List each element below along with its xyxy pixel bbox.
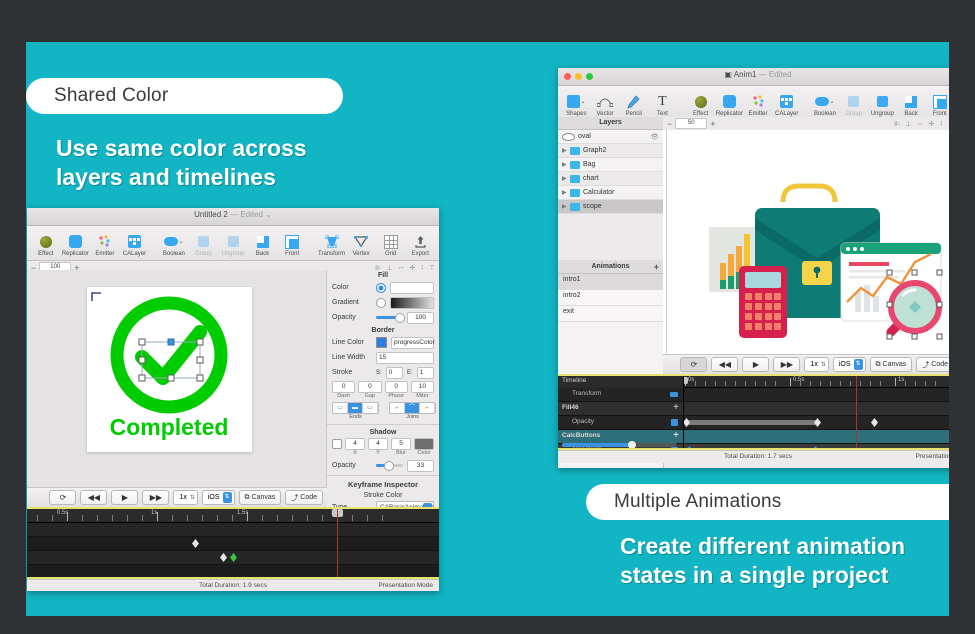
left-window-title-text: Untitled 2 xyxy=(194,210,228,219)
animation-row-exit[interactable]: exit xyxy=(558,306,663,322)
bring-front-icon xyxy=(277,233,307,250)
canvas-button[interactable]: ⧉ Canvas xyxy=(239,490,282,505)
layer-name: oval xyxy=(578,133,591,140)
toolbar-button-text[interactable]: T Text xyxy=(648,93,677,119)
send-back-icon xyxy=(248,233,278,250)
platform-select[interactable]: iOS ⇅ xyxy=(833,357,866,372)
ungroup-icon xyxy=(868,93,897,110)
layer-row-bag[interactable]: ▶ Bag xyxy=(558,158,663,172)
dash-field[interactable]: 0 xyxy=(332,381,355,393)
folder-icon xyxy=(570,189,580,197)
fill-opacity-value[interactable]: 100 xyxy=(407,312,434,324)
miter-cell[interactable]: 10 Miter xyxy=(411,381,434,400)
speed-select[interactable]: 1x ⇅ xyxy=(804,357,828,372)
chevron-down-icon[interactable]: ⌄ xyxy=(265,210,272,219)
ruler-tick-label: 1s xyxy=(898,377,904,383)
toolbar-button-effect[interactable]: Effect xyxy=(686,93,715,119)
track-name-row[interactable]: Transform xyxy=(558,388,683,402)
ungroup-icon xyxy=(218,233,248,250)
timeline-row[interactable] xyxy=(27,523,439,537)
inspector-divider xyxy=(327,424,439,425)
align-left-icon[interactable]: ⊫ xyxy=(894,120,900,128)
line-color-label: Line Color xyxy=(332,339,372,346)
group-icon xyxy=(189,233,219,250)
ruler-tick-label: 1s xyxy=(151,510,157,516)
vertex-icon xyxy=(346,233,376,250)
stroke-row[interactable]: Stroke S: 0 E: 1 xyxy=(327,365,439,380)
layer-row-chart[interactable]: ▶ chart xyxy=(558,172,663,186)
joins-group[interactable]: ⌐⌒⌐ Joins xyxy=(389,402,436,421)
join-bevel-icon[interactable]: ⌐ xyxy=(420,403,435,413)
canvas-button[interactable]: ⧉ Canvas xyxy=(870,357,913,372)
end-round-icon[interactable]: ▬ xyxy=(348,403,363,413)
timeline-tracks-area[interactable]: 0s 0.5s 1s xyxy=(683,376,949,448)
track-label: Fill46 xyxy=(562,404,579,411)
toolbar-label: Export xyxy=(405,250,435,258)
stepper-icon[interactable]: ⇅ xyxy=(821,361,826,368)
code-label: Code xyxy=(300,494,317,501)
layer-name: Bag xyxy=(583,161,595,168)
right-timeline[interactable]: Timeline Transform Fill46 + Opacity Calc… xyxy=(558,376,949,448)
rewind-button[interactable]: ◀◀ xyxy=(711,357,738,372)
track-name-row[interactable]: CalcButtons + xyxy=(558,430,683,444)
toolbar-label: Emitter xyxy=(90,250,120,258)
shadow-x-field[interactable]: 4 xyxy=(345,438,365,450)
end-square-icon[interactable]: ▭ xyxy=(363,403,378,413)
shadow-enable-checkbox[interactable] xyxy=(332,438,342,449)
shadow-opacity-value[interactable]: 33 xyxy=(407,460,434,472)
ruler-tick-label: 0s xyxy=(688,377,694,383)
keyframe-inspector-title: Keyframe Inspector xyxy=(327,478,439,490)
play-button[interactable]: ▶ xyxy=(111,490,138,505)
right-window-title: ▣ Anim1 — Edited xyxy=(558,70,949,79)
toolbar-button-boolean[interactable]: ⌄ Boolean xyxy=(159,233,189,259)
toolbar-button-vector[interactable]: Vector xyxy=(591,93,620,119)
track-label: CalcButtons xyxy=(562,432,600,439)
fill-gradient-row[interactable]: Gradient xyxy=(327,295,439,310)
toolbar-label: Ungroup xyxy=(218,250,248,258)
caps-joins-row[interactable]: ▭▬▭ Ends ⌐⌒⌐ Joins xyxy=(327,401,439,422)
toolbar-button-group[interactable]: Group xyxy=(839,93,868,119)
toolbar-button-replicator[interactable]: Replicator xyxy=(61,233,91,259)
speed-value: 1x xyxy=(810,361,817,368)
emitter-icon xyxy=(744,93,773,110)
joins-label: Joins xyxy=(389,414,436,421)
playhead[interactable] xyxy=(337,509,338,579)
toolbar-label: Grid xyxy=(376,250,406,258)
toolbar-label: Group xyxy=(189,250,219,258)
emitter-icon xyxy=(90,233,120,250)
toolbar-button-calayer[interactable]: CALayer xyxy=(120,233,150,259)
rewind-button[interactable]: ◀◀ xyxy=(80,490,107,505)
folder-icon xyxy=(570,161,580,169)
ruler-tick-label: 1.5s xyxy=(237,510,248,516)
toolbar-button-replicator[interactable]: Replicator xyxy=(715,93,744,119)
play-button[interactable]: ▶ xyxy=(742,357,769,372)
timeline-row[interactable] xyxy=(27,551,439,565)
fill-color-label: Color xyxy=(332,284,372,291)
timeline-track[interactable] xyxy=(683,416,949,430)
anchor-corner-icon xyxy=(89,289,109,309)
ends-segmented[interactable]: ▭▬▭ xyxy=(332,402,379,414)
right-app-window[interactable]: ▣ Anim1 — Edited ⌄ Shapes Vector Pencil xyxy=(558,68,949,468)
left-window-edited-state: — Edited xyxy=(230,210,263,219)
loop-button[interactable]: ⟳ xyxy=(49,490,76,505)
layer-name: Calculator xyxy=(583,189,615,196)
fill-opacity-label: Opacity xyxy=(332,314,372,321)
phase-field[interactable]: 0 xyxy=(385,381,408,393)
pencil-icon xyxy=(619,93,648,110)
platform-value: iOS xyxy=(839,361,851,368)
stepper-icon[interactable]: ⇅ xyxy=(190,494,195,501)
line-color-field[interactable]: progressColor xyxy=(391,337,434,349)
toolbar-button-boolean[interactable]: ⌄ Boolean xyxy=(811,93,840,119)
distribute-h-icon[interactable]: ↔ xyxy=(917,120,924,128)
shadow-blur-cell[interactable]: 5 Blur xyxy=(391,438,411,457)
track-label: Transform xyxy=(572,390,601,397)
ruler-tick-label: 0.5s xyxy=(57,510,68,516)
right-window-title-text: Anim1 xyxy=(734,70,757,79)
folder-icon xyxy=(570,203,580,211)
layer-row-oval[interactable]: oval 👁 xyxy=(558,130,663,144)
calayer-icon xyxy=(772,93,801,110)
timeline-track[interactable] xyxy=(683,388,949,402)
left-canvas-area[interactable]: Completed xyxy=(27,270,327,487)
left-window-toolbar[interactable]: Effect Replicator Emitter xyxy=(27,226,439,261)
toolbar-label: Boolean xyxy=(159,250,189,258)
dash-cell[interactable]: 0 Dash xyxy=(332,381,355,400)
shadow-settings-row[interactable]: 4 X 4 Y 5 Blur Color xyxy=(327,437,439,458)
track-name-row[interactable]: Fill46 + xyxy=(558,402,683,416)
end-butt-icon[interactable]: ▭ xyxy=(333,403,348,413)
disclosure-triangle-icon[interactable]: ▶ xyxy=(562,147,567,154)
animation-row-intro1[interactable]: intro1 xyxy=(558,274,663,290)
right-window-toolbar[interactable]: ⌄ Shapes Vector Pencil T Text xyxy=(558,86,949,121)
timeline-header-label: Timeline xyxy=(558,376,683,388)
ends-group[interactable]: ▭▬▭ Ends xyxy=(332,402,379,421)
boolean-icon: ⌄ xyxy=(811,93,840,110)
toolbar-label: Effect xyxy=(31,250,61,258)
track-toggle-icon[interactable] xyxy=(670,392,678,397)
transform-icon xyxy=(317,233,347,250)
line-width-label: Line Width xyxy=(332,354,372,361)
phase-cell[interactable]: 0 Phase xyxy=(385,381,408,400)
right-window-edited-state: — Edited xyxy=(759,70,792,79)
shadow-x-label: X xyxy=(345,450,365,457)
code-button[interactable]: ⤴ Code xyxy=(916,357,949,372)
animations-panel-header: Animations + xyxy=(558,261,663,274)
toolbar-button-transform[interactable]: Transform xyxy=(317,233,347,259)
toolbar-button-front[interactable]: Front xyxy=(277,233,307,259)
disclosure-triangle-icon[interactable]: ▶ xyxy=(562,203,567,210)
inspector-divider xyxy=(327,475,439,476)
timeline-ruler[interactable]: 0s 0.5s 1s xyxy=(683,376,949,388)
track-label: Opacity xyxy=(572,418,594,425)
layer-row-graph2[interactable]: ▶ Graph2 xyxy=(558,144,663,158)
right-playback-bar[interactable]: ⟳ ◀◀ ▶ ▶▶ 1x ⇅ iOS ⇅ ⧉ Canvas ⤴ Code xyxy=(663,354,949,374)
platform-value: iOS xyxy=(208,494,220,501)
right-window-titlebar[interactable]: ▣ Anim1 — Edited xyxy=(558,68,949,86)
text-icon: T xyxy=(648,93,677,110)
align-tools[interactable]: ⊫ ⊥ ↔ ✛ ↕ ⊤ xyxy=(894,120,949,128)
fill-gradient-swatch[interactable] xyxy=(390,297,434,309)
toolbar-button-emitter[interactable]: Emitter xyxy=(744,93,773,119)
shadow-y-label: Y xyxy=(368,450,388,457)
add-animation-icon[interactable]: + xyxy=(654,261,659,273)
keyframe-inspector-subtitle: Stroke Color xyxy=(327,490,439,500)
toolbar-button-grid[interactable]: Grid xyxy=(376,233,406,259)
fill-gradient-radio[interactable] xyxy=(376,298,386,308)
grid-icon xyxy=(376,233,406,250)
selection-handles[interactable] xyxy=(87,287,252,452)
stroke-end-field[interactable]: 1 xyxy=(417,367,434,379)
blurb-line-2: states in a single project xyxy=(620,561,905,590)
layer-row-calculator[interactable]: ▶ Calculator xyxy=(558,186,663,200)
miter-field[interactable]: 10 xyxy=(411,381,434,393)
right-canvas-area[interactable] xyxy=(663,130,949,354)
toolbar-button-export[interactable]: Export xyxy=(405,233,435,259)
folder-icon xyxy=(570,175,580,183)
code-button[interactable]: ⤴ Code xyxy=(285,490,323,505)
shadow-blur-label: Blur xyxy=(391,450,411,457)
layer-name: scope xyxy=(583,203,602,210)
canvas-label: Canvas xyxy=(883,361,907,368)
document-icon: ▣ xyxy=(724,70,732,79)
timeline-scrollbar[interactable] xyxy=(562,443,677,447)
toolbar-button-ungroup[interactable]: Ungroup xyxy=(218,233,248,259)
group-icon xyxy=(839,93,868,110)
presentation-mode-label[interactable]: Presentation Mode xyxy=(378,582,433,589)
miter-label: Miter xyxy=(411,393,434,400)
platform-select[interactable]: iOS ⇅ xyxy=(202,490,235,505)
stroke-start-field[interactable]: 0 xyxy=(386,367,403,379)
oval-shape-icon xyxy=(562,133,575,141)
phase-label: Phase xyxy=(385,393,408,400)
toolbar-button-back[interactable]: Back xyxy=(248,233,278,259)
replicator-icon xyxy=(61,233,91,250)
effect-icon xyxy=(686,93,715,110)
right-status-bar: Total Duration: 1.7 secs Presentation xyxy=(558,450,949,463)
device-frame: Shared Color Use same color across layer… xyxy=(0,0,975,634)
send-back-icon xyxy=(897,93,926,110)
folder-icon xyxy=(570,147,580,155)
callout-blurb-multiple-animations: Create different animation states in a s… xyxy=(620,532,905,590)
boolean-icon: ⌄ xyxy=(159,233,189,250)
line-width-row[interactable]: Line Width 15 xyxy=(327,350,439,365)
layers-panel-header: Layers xyxy=(558,117,663,130)
distribute-v-icon[interactable]: ↕ xyxy=(939,120,943,128)
business-illustration-artwork[interactable] xyxy=(663,130,949,354)
callout-pill-shared-color: Shared Color xyxy=(26,78,343,114)
stroke-label: Stroke xyxy=(332,369,372,376)
code-label: Code xyxy=(931,361,948,368)
toolbar-label: Back xyxy=(248,250,278,258)
toolbar-button-ungroup[interactable]: Ungroup xyxy=(868,93,897,119)
line-width-field[interactable]: 15 xyxy=(376,352,434,364)
line-color-row[interactable]: Line Color progressColor xyxy=(327,335,439,350)
code-icon: ⤴ xyxy=(922,360,929,370)
artboard[interactable]: Completed xyxy=(87,287,252,452)
vector-icon xyxy=(591,93,620,110)
canvas-icon: ⧉ xyxy=(245,494,250,502)
left-status-bar: Total Duration: 1.9 secs Presentation Mo… xyxy=(27,579,439,591)
zoom-field[interactable]: 50 xyxy=(675,118,707,129)
stroke-start-label: S: xyxy=(376,370,382,376)
shadow-x-cell[interactable]: 4 X xyxy=(345,438,365,457)
loop-button[interactable]: ⟳ xyxy=(680,357,707,372)
left-window-titlebar[interactable]: Untitled 2 — Edited ⌄ xyxy=(27,208,439,226)
fill-color-radio[interactable] xyxy=(376,283,386,293)
fill-color-row[interactable]: Color xyxy=(327,280,439,295)
callout-pill-label: Shared Color xyxy=(26,85,168,107)
toolbar-label: Replicator xyxy=(61,250,91,258)
shadow-opacity-slider[interactable] xyxy=(376,464,403,467)
playhead[interactable] xyxy=(856,376,857,448)
toolbar-button-shapes[interactable]: ⌄ Shapes xyxy=(562,93,591,119)
stepper-icon[interactable]: ⇅ xyxy=(223,492,232,503)
stroke-end-label: E: xyxy=(407,370,413,376)
total-duration-label: Total Duration: 1.7 secs xyxy=(558,453,949,460)
fill-opacity-row[interactable]: Opacity 100 xyxy=(327,310,439,325)
track-checkbox[interactable] xyxy=(671,447,678,448)
toolbar-label: Vertex xyxy=(346,250,376,258)
bring-front-icon xyxy=(925,93,949,110)
timeline-track-names[interactable]: Timeline Transform Fill46 + Opacity Calc… xyxy=(558,376,684,448)
toolbar-button-pencil[interactable]: Pencil xyxy=(619,93,648,119)
shadow-opacity-label: Opacity xyxy=(332,462,372,469)
toolbar-button-emitter[interactable]: Emitter xyxy=(90,233,120,259)
shadow-color-swatch[interactable] xyxy=(414,438,434,450)
align-top-icon[interactable]: ⊤ xyxy=(948,120,949,128)
inspector-section-fill: Fill xyxy=(327,270,439,280)
presentation-mode-label[interactable]: Presentation xyxy=(916,453,950,460)
shadow-opacity-row[interactable]: Opacity 33 xyxy=(327,458,439,473)
track-checkbox[interactable] xyxy=(671,419,678,426)
left-timeline[interactable]: 0.5s 1s 1.5s 2s xyxy=(27,509,439,579)
join-round-icon[interactable]: ⌒ xyxy=(405,403,420,413)
speed-select[interactable]: 1x ⇅ xyxy=(173,490,197,505)
blurb-line-1: Create different animation xyxy=(620,532,905,561)
toolbar-label: Transform xyxy=(317,250,347,258)
left-window-title: Untitled 2 — Edited ⌄ xyxy=(27,210,439,219)
canvas-icon: ⧉ xyxy=(876,361,881,369)
replicator-icon xyxy=(715,93,744,110)
animation-row-intro2[interactable]: intro2 xyxy=(558,290,663,306)
track-name-row[interactable]: Opacity xyxy=(558,416,683,430)
toolbar-button-effect[interactable]: Effect xyxy=(31,233,61,259)
toolbar-button-back[interactable]: Back xyxy=(897,93,926,119)
dash-label: Dash xyxy=(332,393,355,400)
toolbar-button-calayer[interactable]: CALayer xyxy=(772,93,801,119)
layer-row-scope[interactable]: ▶ scope xyxy=(558,200,663,214)
animations-header-label: Animations xyxy=(591,263,629,270)
shadow-color-label: Color xyxy=(414,450,434,457)
forward-button[interactable]: ▶▶ xyxy=(142,490,169,505)
gap-cell[interactable]: 0 Gap xyxy=(358,381,381,400)
callout-pill-label: Multiple Animations xyxy=(586,491,782,513)
line-color-swatch[interactable] xyxy=(376,337,387,348)
disclosure-triangle-icon[interactable]: ▶ xyxy=(562,189,567,196)
promo-background: Shared Color Use same color across layer… xyxy=(26,42,949,616)
right-option-bar[interactable]: − 50 + ⊫ ⊥ ↔ ✛ ↕ ⊤ xyxy=(663,117,949,131)
fill-opacity-slider[interactable] xyxy=(376,316,403,319)
left-playback-bar[interactable]: ⟳ ◀◀ ▶ ▶▶ 1x ⇅ iOS ⇅ ⧉ Canvas ⤴ Code xyxy=(27,487,327,507)
add-keyframe-icon[interactable]: + xyxy=(673,430,679,441)
join-miter-icon[interactable]: ⌐ xyxy=(390,403,405,413)
inspector-section-shadow: Shadow xyxy=(327,427,439,437)
zoom-out-icon[interactable]: − xyxy=(667,119,672,129)
align-center-icon[interactable]: ✛ xyxy=(929,120,935,128)
eye-icon[interactable]: 👁 xyxy=(650,133,659,141)
gap-field[interactable]: 0 xyxy=(358,381,381,393)
toolbar-button-vertex[interactable]: Vertex xyxy=(346,233,376,259)
export-icon xyxy=(405,233,435,250)
timeline-track[interactable] xyxy=(683,402,949,416)
disclosure-triangle-icon[interactable]: ▶ xyxy=(562,161,567,168)
stepper-icon[interactable]: ⇅ xyxy=(854,359,863,370)
shadow-color-cell[interactable]: Color xyxy=(414,438,434,457)
inspector-section-border: Border xyxy=(327,325,439,335)
calayer-icon xyxy=(120,233,150,250)
effect-icon xyxy=(31,233,61,250)
shadow-y-field[interactable]: 4 xyxy=(368,438,388,450)
left-app-window[interactable]: Untitled 2 — Edited ⌄ Effect Replicator … xyxy=(27,208,439,591)
toolbar-label: CALayer xyxy=(120,250,150,258)
gap-label: Gap xyxy=(358,393,381,400)
speed-value: 1x xyxy=(179,494,186,501)
callout-pill-multiple-animations: Multiple Animations xyxy=(586,484,949,520)
ruler-tick-label: 0.5s xyxy=(793,377,804,383)
toolbar-label: Front xyxy=(277,250,307,258)
joins-segmented[interactable]: ⌐⌒⌐ xyxy=(389,402,436,414)
zoom-in-icon[interactable]: + xyxy=(710,119,715,129)
dash-settings-row[interactable]: 0 Dash 0 Gap 0 Phase 10 Miter xyxy=(327,380,439,401)
timeline-track[interactable] xyxy=(683,430,949,444)
timeline-row[interactable] xyxy=(27,537,439,551)
forward-button[interactable]: ▶▶ xyxy=(773,357,800,372)
blurb-line-2: layers and timelines xyxy=(56,163,307,192)
blurb-line-1: Use same color across xyxy=(56,134,307,163)
add-keyframe-icon[interactable]: + xyxy=(673,402,679,413)
layer-name: Graph2 xyxy=(583,147,606,154)
shadow-y-cell[interactable]: 4 Y xyxy=(368,438,388,457)
layers-empty-space[interactable] xyxy=(558,214,663,261)
ends-label: Ends xyxy=(332,414,379,421)
timeline-ruler[interactable]: 0.5s 1s 1.5s 2s xyxy=(27,509,439,523)
shapes-icon: ⌄ xyxy=(562,93,591,110)
total-duration-label: Total Duration: 1.9 secs xyxy=(27,582,439,589)
fill-gradient-label: Gradient xyxy=(332,299,372,306)
canvas-label: Canvas xyxy=(252,494,276,501)
toolbar-button-group[interactable]: Group xyxy=(189,233,219,259)
code-icon: ⤴ xyxy=(291,493,298,503)
disclosure-triangle-icon[interactable]: ▶ xyxy=(562,175,567,182)
fill-color-field[interactable] xyxy=(390,282,434,294)
callout-blurb-shared-color: Use same color across layers and timelin… xyxy=(56,134,307,192)
shadow-blur-field[interactable]: 5 xyxy=(391,438,411,450)
align-bottom-icon[interactable]: ⊥ xyxy=(905,120,911,128)
layer-name: chart xyxy=(583,175,599,182)
toolbar-button-front[interactable]: Front xyxy=(925,93,949,119)
